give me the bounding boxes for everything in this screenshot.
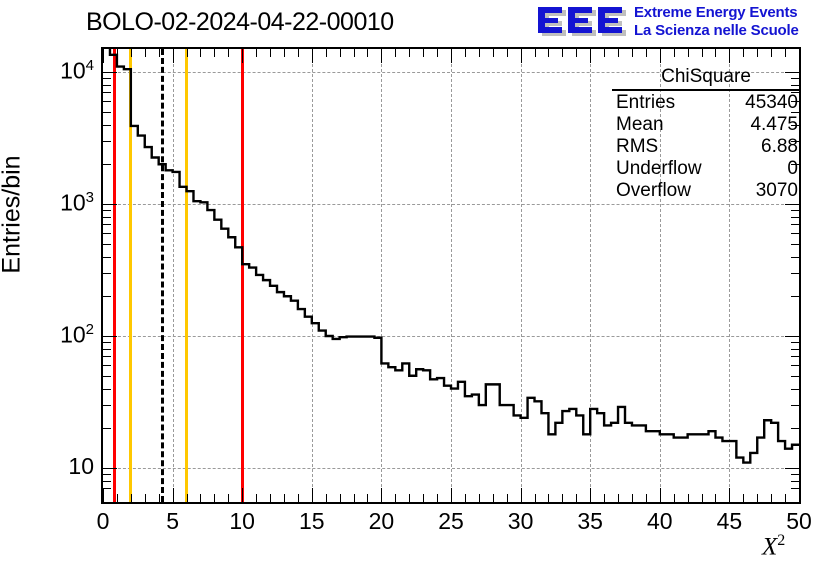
x-tick-minor: [507, 494, 508, 502]
x-tick-minor: [562, 494, 563, 502]
x-tick-minor-top: [340, 49, 341, 57]
y-tick-label-base: 10: [68, 453, 94, 479]
x-tick-label: 0: [73, 508, 133, 535]
x-tick-minor: [646, 494, 647, 502]
y-tick-minor-right: [791, 224, 799, 225]
y-tick-minor: [103, 481, 111, 482]
x-tick-minor-top: [326, 49, 327, 57]
x-tick-minor: [437, 494, 438, 502]
y-tick-label: 10: [24, 453, 94, 480]
x-tick-label: 30: [491, 508, 551, 535]
statistics-row-key: Mean: [616, 114, 664, 136]
x-tick-minor-top: [479, 49, 480, 57]
statistics-box: ChiSquare Entries45340Mean4.475RMS6.88Un…: [608, 66, 804, 202]
y-tick-minor: [103, 217, 111, 218]
x-tick-minor: [298, 494, 299, 502]
x-tick-minor-top: [354, 49, 355, 57]
y-tick-minor-right: [791, 233, 799, 234]
y-tick-minor-right: [791, 349, 799, 350]
y-tick-minor-right: [791, 405, 799, 406]
x-tick-label: 50: [769, 508, 829, 535]
x-tick-minor-top: [228, 49, 229, 57]
x-tick-major: [173, 488, 174, 502]
x-tick-minor-top: [493, 49, 494, 57]
x-tick-minor: [465, 494, 466, 502]
x-tick-minor: [548, 494, 549, 502]
y-tick-minor: [103, 164, 111, 165]
y-tick-minor: [103, 141, 111, 142]
y-tick-minor: [103, 356, 111, 357]
x-tick-label: 45: [699, 508, 759, 535]
y-tick-label: 103: [24, 189, 94, 217]
y-tick-minor: [103, 92, 111, 93]
x-tick-minor: [674, 494, 675, 502]
x-tick-label: 5: [143, 508, 203, 535]
x-tick-minor-top: [159, 49, 160, 57]
x-tick-minor-top: [618, 49, 619, 57]
statistics-row-value: 4.475: [750, 114, 798, 136]
statistics-row-key: Underflow: [616, 158, 702, 180]
x-tick-minor: [785, 494, 786, 502]
y-tick-minor: [103, 257, 111, 258]
x-tick-label: 25: [421, 508, 481, 535]
y-tick-minor: [103, 85, 111, 86]
statistics-row-value: 45340: [745, 92, 798, 114]
x-tick-minor-top: [757, 49, 758, 57]
x-tick-major-top: [660, 49, 661, 63]
y-tick-minor: [103, 244, 111, 245]
x-tick-minor: [187, 494, 188, 502]
y-tick-minor-right: [791, 244, 799, 245]
x-tick-minor: [632, 494, 633, 502]
y-tick-major: [103, 204, 117, 205]
x-tick-minor: [409, 494, 410, 502]
x-tick-minor: [145, 494, 146, 502]
x-tick-minor-top: [284, 49, 285, 57]
x-tick-minor-top: [367, 49, 368, 57]
y-tick-minor: [103, 273, 111, 274]
x-tick-minor: [423, 494, 424, 502]
x-axis-title-exponent: 2: [777, 532, 785, 549]
x-tick-minor: [688, 494, 689, 502]
x-tick-minor-top: [187, 49, 188, 57]
y-tick-label: 102: [24, 321, 94, 349]
statistics-row-key: Entries: [616, 92, 675, 114]
x-tick-major: [242, 488, 243, 502]
x-tick-minor: [340, 494, 341, 502]
statistics-row: Underflow0: [608, 158, 804, 180]
x-tick-minor: [159, 494, 160, 502]
x-tick-minor-top: [298, 49, 299, 57]
x-tick-major: [729, 488, 730, 502]
x-tick-major: [521, 488, 522, 502]
x-tick-minor: [479, 494, 480, 502]
y-tick-major: [103, 468, 117, 469]
x-tick-minor-top: [270, 49, 271, 57]
x-tick-minor-top: [256, 49, 257, 57]
y-tick-label-base: 10: [60, 190, 86, 216]
x-tick-minor: [715, 494, 716, 502]
y-tick-label-base: 10: [60, 322, 86, 348]
y-tick-minor: [103, 474, 111, 475]
y-tick-label-exponent: 4: [86, 57, 94, 74]
x-tick-major: [312, 488, 313, 502]
statistics-row: Overflow3070: [608, 180, 804, 202]
y-tick-minor-right: [791, 365, 799, 366]
y-tick-major-right: [785, 468, 799, 469]
y-tick-minor: [103, 405, 111, 406]
eee-logo-mark: [536, 5, 630, 41]
statistics-row-value: 6.88: [761, 136, 798, 158]
statistics-row-key: RMS: [616, 136, 658, 158]
x-tick-major: [590, 488, 591, 502]
x-tick-major-top: [381, 49, 382, 63]
x-tick-minor-top: [548, 49, 549, 57]
x-tick-minor-top: [702, 49, 703, 57]
y-tick-minor-right: [791, 474, 799, 475]
y-tick-label-exponent: 3: [86, 189, 94, 206]
y-tick-minor: [103, 389, 111, 390]
x-tick-major: [660, 488, 661, 502]
y-tick-minor: [103, 210, 111, 211]
x-tick-major-top: [729, 49, 730, 63]
x-tick-minor-top: [465, 49, 466, 57]
y-tick-minor-right: [791, 273, 799, 274]
x-tick-minor: [743, 494, 744, 502]
statistics-row-value: 0: [787, 158, 798, 180]
x-tick-minor: [284, 494, 285, 502]
y-tick-minor: [103, 78, 111, 79]
y-tick-minor-right: [791, 296, 799, 297]
x-tick-minor-top: [785, 49, 786, 57]
statistics-divider: [612, 89, 800, 91]
y-axis-title: Entries/bin: [0, 35, 27, 395]
y-tick-minor: [103, 376, 111, 377]
statistics-row: Mean4.475: [608, 114, 804, 136]
y-tick-minor: [103, 342, 111, 343]
y-tick-major-right: [785, 336, 799, 337]
x-tick-minor-top: [200, 49, 201, 57]
y-tick-minor: [103, 224, 111, 225]
y-tick-minor-right: [791, 428, 799, 429]
x-tick-minor: [367, 494, 368, 502]
x-tick-minor-top: [562, 49, 563, 57]
statistics-row: RMS6.88: [608, 136, 804, 158]
x-tick-minor: [757, 494, 758, 502]
x-tick-minor: [395, 494, 396, 502]
x-tick-major-top: [590, 49, 591, 63]
x-tick-minor: [535, 494, 536, 502]
x-tick-label: 20: [351, 508, 411, 535]
y-tick-minor: [103, 349, 111, 350]
y-tick-label-exponent: 2: [86, 321, 94, 338]
statistics-rows: Entries45340Mean4.475RMS6.88Underflow0Ov…: [608, 92, 804, 202]
x-tick-label: 35: [560, 508, 620, 535]
x-tick-minor-top: [117, 49, 118, 57]
eee-logo-line2: La Scienza nelle Scuole: [634, 22, 799, 40]
y-tick-minor-right: [791, 257, 799, 258]
x-axis-title: X2: [762, 532, 785, 561]
x-tick-major-top: [173, 49, 174, 63]
y-tick-minor-right: [791, 342, 799, 343]
y-tick-major: [103, 336, 117, 337]
statistics-row: Entries45340: [608, 92, 804, 114]
x-tick-minor: [131, 494, 132, 502]
x-tick-label: 15: [282, 508, 342, 535]
page-title: BOLO-02-2024-04-22-00010: [86, 8, 394, 37]
y-tick-minor: [103, 296, 111, 297]
x-tick-minor-top: [409, 49, 410, 57]
x-tick-minor: [117, 494, 118, 502]
y-tick-minor-right: [791, 481, 799, 482]
x-tick-minor-top: [646, 49, 647, 57]
x-tick-label: 40: [630, 508, 690, 535]
x-tick-minor-top: [715, 49, 716, 57]
eee-logo-line1: Extreme Energy Events: [634, 4, 799, 22]
y-tick-minor-right: [791, 210, 799, 211]
y-tick-major: [103, 72, 117, 73]
y-tick-minor: [103, 112, 111, 113]
y-tick-label-base: 10: [60, 58, 86, 84]
x-tick-minor-top: [632, 49, 633, 57]
x-tick-minor: [256, 494, 257, 502]
eee-logo-text: Extreme Energy Events La Scienza nelle S…: [634, 4, 799, 40]
y-tick-minor-right: [791, 356, 799, 357]
x-tick-major-top: [312, 49, 313, 63]
y-tick-minor-right: [791, 217, 799, 218]
x-tick-major: [381, 488, 382, 502]
x-tick-minor-top: [674, 49, 675, 57]
x-tick-major: [103, 488, 104, 502]
x-tick-minor: [493, 494, 494, 502]
y-tick-minor-right: [791, 389, 799, 390]
x-tick-minor-top: [131, 49, 132, 57]
statistics-row-value: 3070: [756, 180, 798, 202]
y-tick-minor-right: [791, 376, 799, 377]
x-tick-minor: [771, 494, 772, 502]
x-tick-major: [451, 488, 452, 502]
x-tick-minor: [200, 494, 201, 502]
x-tick-minor-top: [437, 49, 438, 57]
x-tick-minor: [604, 494, 605, 502]
y-tick-minor: [103, 233, 111, 234]
y-tick-major-right: [785, 204, 799, 205]
y-tick-minor: [103, 488, 111, 489]
x-tick-minor-top: [145, 49, 146, 57]
statistics-row-key: Overflow: [616, 180, 691, 202]
x-tick-major-top: [103, 49, 104, 63]
x-tick-minor-top: [688, 49, 689, 57]
x-tick-major-top: [521, 49, 522, 63]
x-tick-minor-top: [535, 49, 536, 57]
x-tick-major-top: [242, 49, 243, 63]
x-tick-minor: [702, 494, 703, 502]
x-axis-title-base: X: [762, 533, 777, 560]
x-tick-minor: [576, 494, 577, 502]
x-tick-minor: [214, 494, 215, 502]
y-tick-minor: [103, 365, 111, 366]
x-tick-minor-top: [576, 49, 577, 57]
x-tick-major-top: [451, 49, 452, 63]
x-tick-minor-top: [771, 49, 772, 57]
x-tick-minor: [354, 494, 355, 502]
y-tick-minor-right: [791, 488, 799, 489]
y-tick-label: 104: [24, 57, 94, 85]
x-tick-minor: [326, 494, 327, 502]
x-tick-minor-top: [423, 49, 424, 57]
statistics-title: ChiSquare: [608, 66, 804, 89]
x-tick-minor: [618, 494, 619, 502]
x-tick-label: 10: [212, 508, 272, 535]
x-tick-minor: [228, 494, 229, 502]
x-tick-minor-top: [395, 49, 396, 57]
x-tick-minor: [270, 494, 271, 502]
x-tick-minor-top: [743, 49, 744, 57]
y-tick-minor: [103, 428, 111, 429]
x-tick-minor-top: [507, 49, 508, 57]
x-tick-minor-top: [604, 49, 605, 57]
y-tick-minor: [103, 101, 111, 102]
y-tick-minor: [103, 125, 111, 126]
eee-logo: Extreme Energy Events La Scienza nelle S…: [536, 3, 834, 45]
x-tick-minor-top: [214, 49, 215, 57]
